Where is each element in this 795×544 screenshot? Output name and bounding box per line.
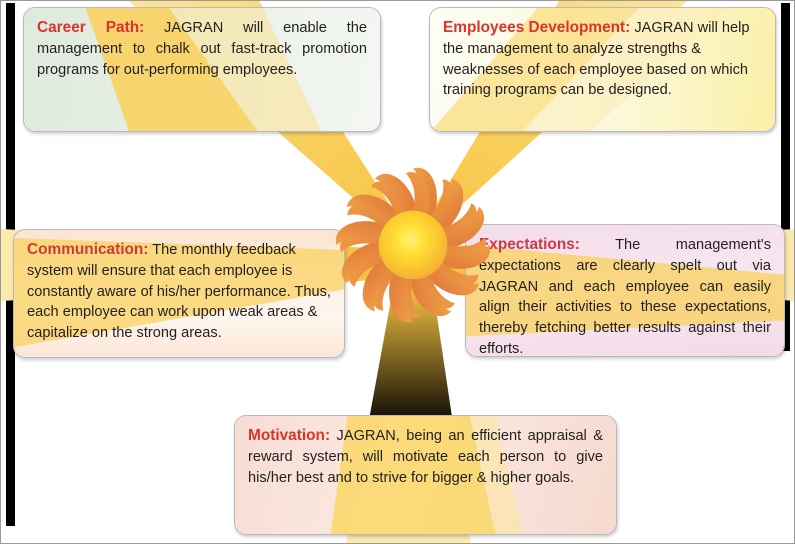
motivation-card-text: Motivation: JAGRAN, being an efficient a… bbox=[235, 416, 616, 498]
motivation-card[interactable]: Motivation: JAGRAN, being an efficient a… bbox=[234, 415, 617, 535]
career-path-heading: Career Path: bbox=[37, 19, 144, 36]
sun-icon bbox=[335, 167, 491, 323]
sun-core bbox=[379, 211, 448, 280]
communication-card[interactable]: Communication: The monthly feedback syst… bbox=[13, 229, 345, 358]
expectations-body: The management's expectations are clearl… bbox=[479, 237, 771, 357]
communication-card-text: Communication: The monthly feedback syst… bbox=[14, 230, 344, 354]
career-path-card-text: Career Path: JAGRAN will enable the mana… bbox=[24, 8, 380, 90]
employees-development-heading: Employees Development: bbox=[443, 19, 630, 36]
employees-development-card[interactable]: Employees Development: JAGRAN will help … bbox=[429, 7, 776, 132]
career-path-card[interactable]: Career Path: JAGRAN will enable the mana… bbox=[23, 7, 381, 132]
motivation-heading: Motivation: bbox=[248, 427, 330, 444]
employees-development-card-text: Employees Development: JAGRAN will help … bbox=[430, 8, 775, 111]
expectations-heading: Expectations: bbox=[479, 236, 580, 253]
expectations-card-text: Expectations: The management's expectati… bbox=[466, 225, 784, 357]
expectations-card[interactable]: Expectations: The management's expectati… bbox=[465, 224, 785, 357]
communication-heading: Communication: bbox=[27, 241, 148, 258]
diagram-canvas: Career Path: JAGRAN will enable the mana… bbox=[0, 0, 795, 544]
